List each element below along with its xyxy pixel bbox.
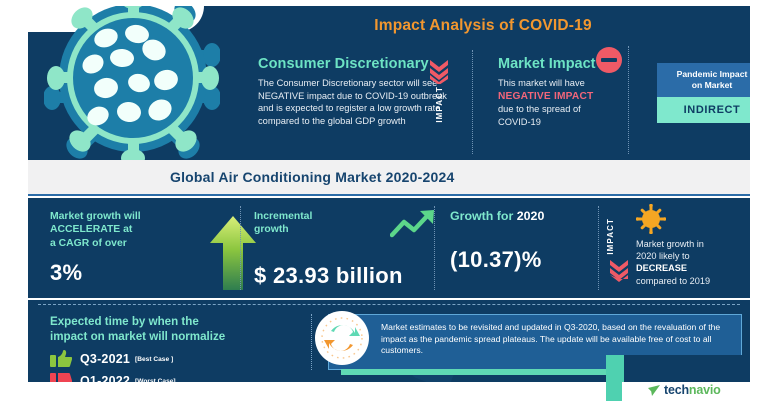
thumbs-up-icon: [50, 350, 72, 368]
stats-impact-line1: Market growth in: [636, 239, 704, 249]
impact-label-growth: IMPACT: [606, 218, 615, 255]
pandemic-header-line2: on Market: [692, 80, 733, 90]
brand-part2: navio: [689, 383, 721, 397]
stats-impact-line3: compared to 2019: [636, 276, 710, 286]
stat-growth-prefix: Growth for: [450, 209, 517, 223]
infographic-page: Impact Analysis of COVID-19 Consumer Dis…: [0, 0, 768, 401]
stats-panel: Market growth will ACCELERATE at a CAGR …: [28, 198, 750, 298]
market-title-band: Global Air Conditioning Market 2020-2024: [28, 160, 750, 196]
pandemic-impact-box: Pandemic Impact on Market INDIRECT: [657, 63, 750, 123]
callout-text: Market estimates to be revisited and upd…: [329, 315, 741, 357]
stat-growth-value: (10.37)%: [450, 223, 610, 273]
stat-cagr-line2: ACCELERATE at: [50, 224, 132, 235]
technavio-arrow-icon: [648, 384, 661, 397]
stats-impact-emphasis: DECREASE: [636, 263, 687, 273]
stat-growth-year: 2020: [517, 209, 545, 223]
stat-growth-label: Growth for 2020: [450, 198, 610, 223]
top-impact-panel: Impact Analysis of COVID-19 Consumer Dis…: [28, 6, 750, 160]
pandemic-header-line1: Pandemic Impact: [677, 69, 748, 79]
case-row-best: Q3-2021 [Best Case ]: [50, 350, 300, 368]
case-row-worst: Q1-2022 [Worst Case]: [50, 372, 300, 382]
case-worst-label: [Worst Case]: [135, 378, 176, 383]
normalize-block: Expected time by when the impact on mark…: [50, 314, 300, 382]
market-impact-line1: This market will have: [498, 78, 585, 88]
stat-cagr-line1: Market growth will: [50, 211, 141, 222]
case-best-label: [Best Case ]: [135, 356, 173, 363]
case-best-quarter: Q3-2021: [80, 352, 130, 366]
impact-label-consumer: IMPACT: [435, 86, 444, 123]
up-arrow-icon: [210, 216, 256, 290]
stat-growth-2020: Growth for 2020 (10.37)%: [450, 198, 610, 298]
refresh-icon-bg: [315, 311, 369, 365]
double-chevron-down-icon: [608, 258, 630, 284]
impact-strip-consumer: IMPACT: [426, 58, 452, 123]
stat-incremental: Incremental growth $ 23.93 billion: [254, 198, 434, 298]
refresh-cycle-icon: [315, 311, 369, 365]
divider-6: [311, 314, 312, 370]
technavio-logo[interactable]: technavio: [648, 383, 721, 397]
divider-2: [628, 46, 629, 154]
stat-cagr-line3: a CAGR of over: [50, 238, 127, 249]
stats-impact-line2: 2020 likely to: [636, 251, 690, 261]
market-title: Global Air Conditioning Market 2020-2024: [170, 169, 454, 185]
orange-virus-icon: [636, 204, 666, 234]
minus-circle-icon: [596, 47, 622, 73]
divider-5: [598, 206, 599, 290]
divider-3: [240, 206, 241, 290]
pandemic-impact-value: INDIRECT: [657, 97, 750, 123]
technavio-wordmark: technavio: [664, 383, 721, 397]
divider-4: [434, 206, 435, 290]
trend-up-icon: [390, 208, 438, 238]
stat-incremental-value: $ 23.93 billion: [254, 237, 434, 289]
brand-part1: tech: [664, 383, 689, 397]
stats-impact-text: Market growth in 2020 likely to DECREASE…: [636, 238, 748, 287]
normalize-line2: impact on market will normalize: [50, 330, 225, 343]
stat-incremental-line1: Incremental: [254, 211, 312, 222]
market-impact-emphasis: NEGATIVE IMPACT: [498, 91, 593, 102]
normalize-line1: Expected time by when the: [50, 315, 199, 328]
double-chevron-down-icon: [428, 58, 450, 84]
market-impact-line2: due to the spread of: [498, 104, 581, 114]
coronavirus-icon: [44, 6, 220, 160]
stat-cagr: Market growth will ACCELERATE at a CAGR …: [50, 198, 240, 298]
market-impact-line3: COVID-19: [498, 117, 541, 127]
page-title: Impact Analysis of COVID-19: [318, 12, 648, 40]
thumbs-down-icon: [50, 372, 72, 382]
impact-strip-growth: IMPACT: [606, 218, 632, 284]
pandemic-impact-header: Pandemic Impact on Market: [657, 63, 750, 97]
stat-incremental-line2: growth: [254, 224, 289, 235]
case-worst-quarter: Q1-2022: [80, 374, 130, 382]
divider-1: [472, 50, 473, 154]
normalize-heading: Expected time by when the impact on mark…: [50, 314, 300, 344]
band-underline: [28, 194, 750, 196]
footer-dark-block: [624, 355, 750, 383]
